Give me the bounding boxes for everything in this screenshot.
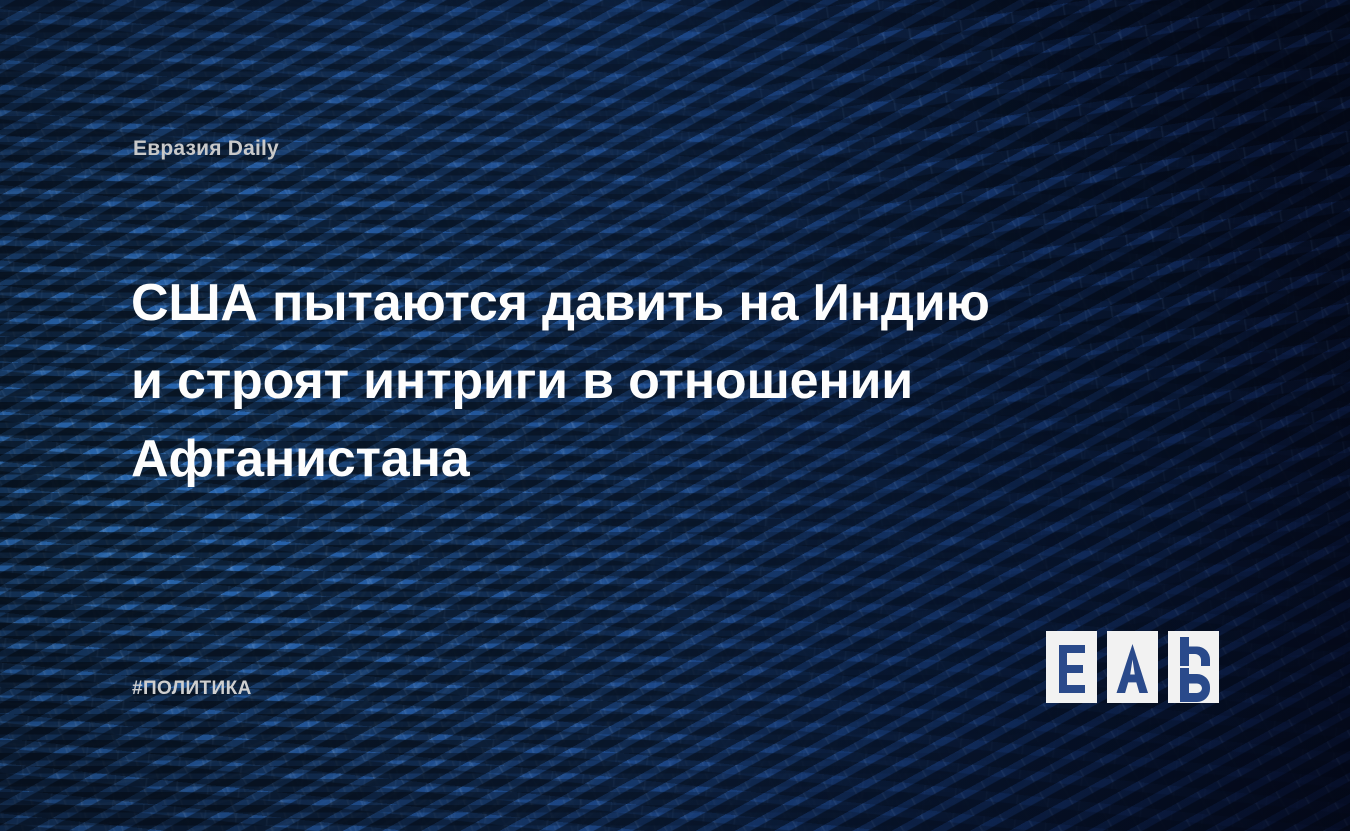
cover-content: Евразия Daily США пытаются давить на Инд… xyxy=(0,0,1350,831)
headline-line-2: и строят интриги в отношении xyxy=(131,342,1061,420)
logo-letter-e-icon xyxy=(1046,631,1097,703)
logo-letter-d-split-icon xyxy=(1168,631,1219,703)
logo-tile-e xyxy=(1046,631,1097,703)
page-title: США пытаются давить на Индию и строят ин… xyxy=(131,264,1061,498)
logo-letter-a-icon xyxy=(1107,631,1158,703)
site-name: Евразия Daily xyxy=(133,138,279,159)
logo-tile-a xyxy=(1107,631,1158,703)
article-cover-card: Евразия Daily США пытаются давить на Инд… xyxy=(0,0,1350,831)
logo-tile-d xyxy=(1168,631,1219,703)
headline-line-3: Афганистана xyxy=(131,420,1061,498)
headline-line-1: США пытаются давить на Индию xyxy=(131,264,1061,342)
category-hashtag[interactable]: #ПОЛИТИКА xyxy=(132,679,252,698)
eadaily-logo[interactable] xyxy=(1046,631,1220,703)
